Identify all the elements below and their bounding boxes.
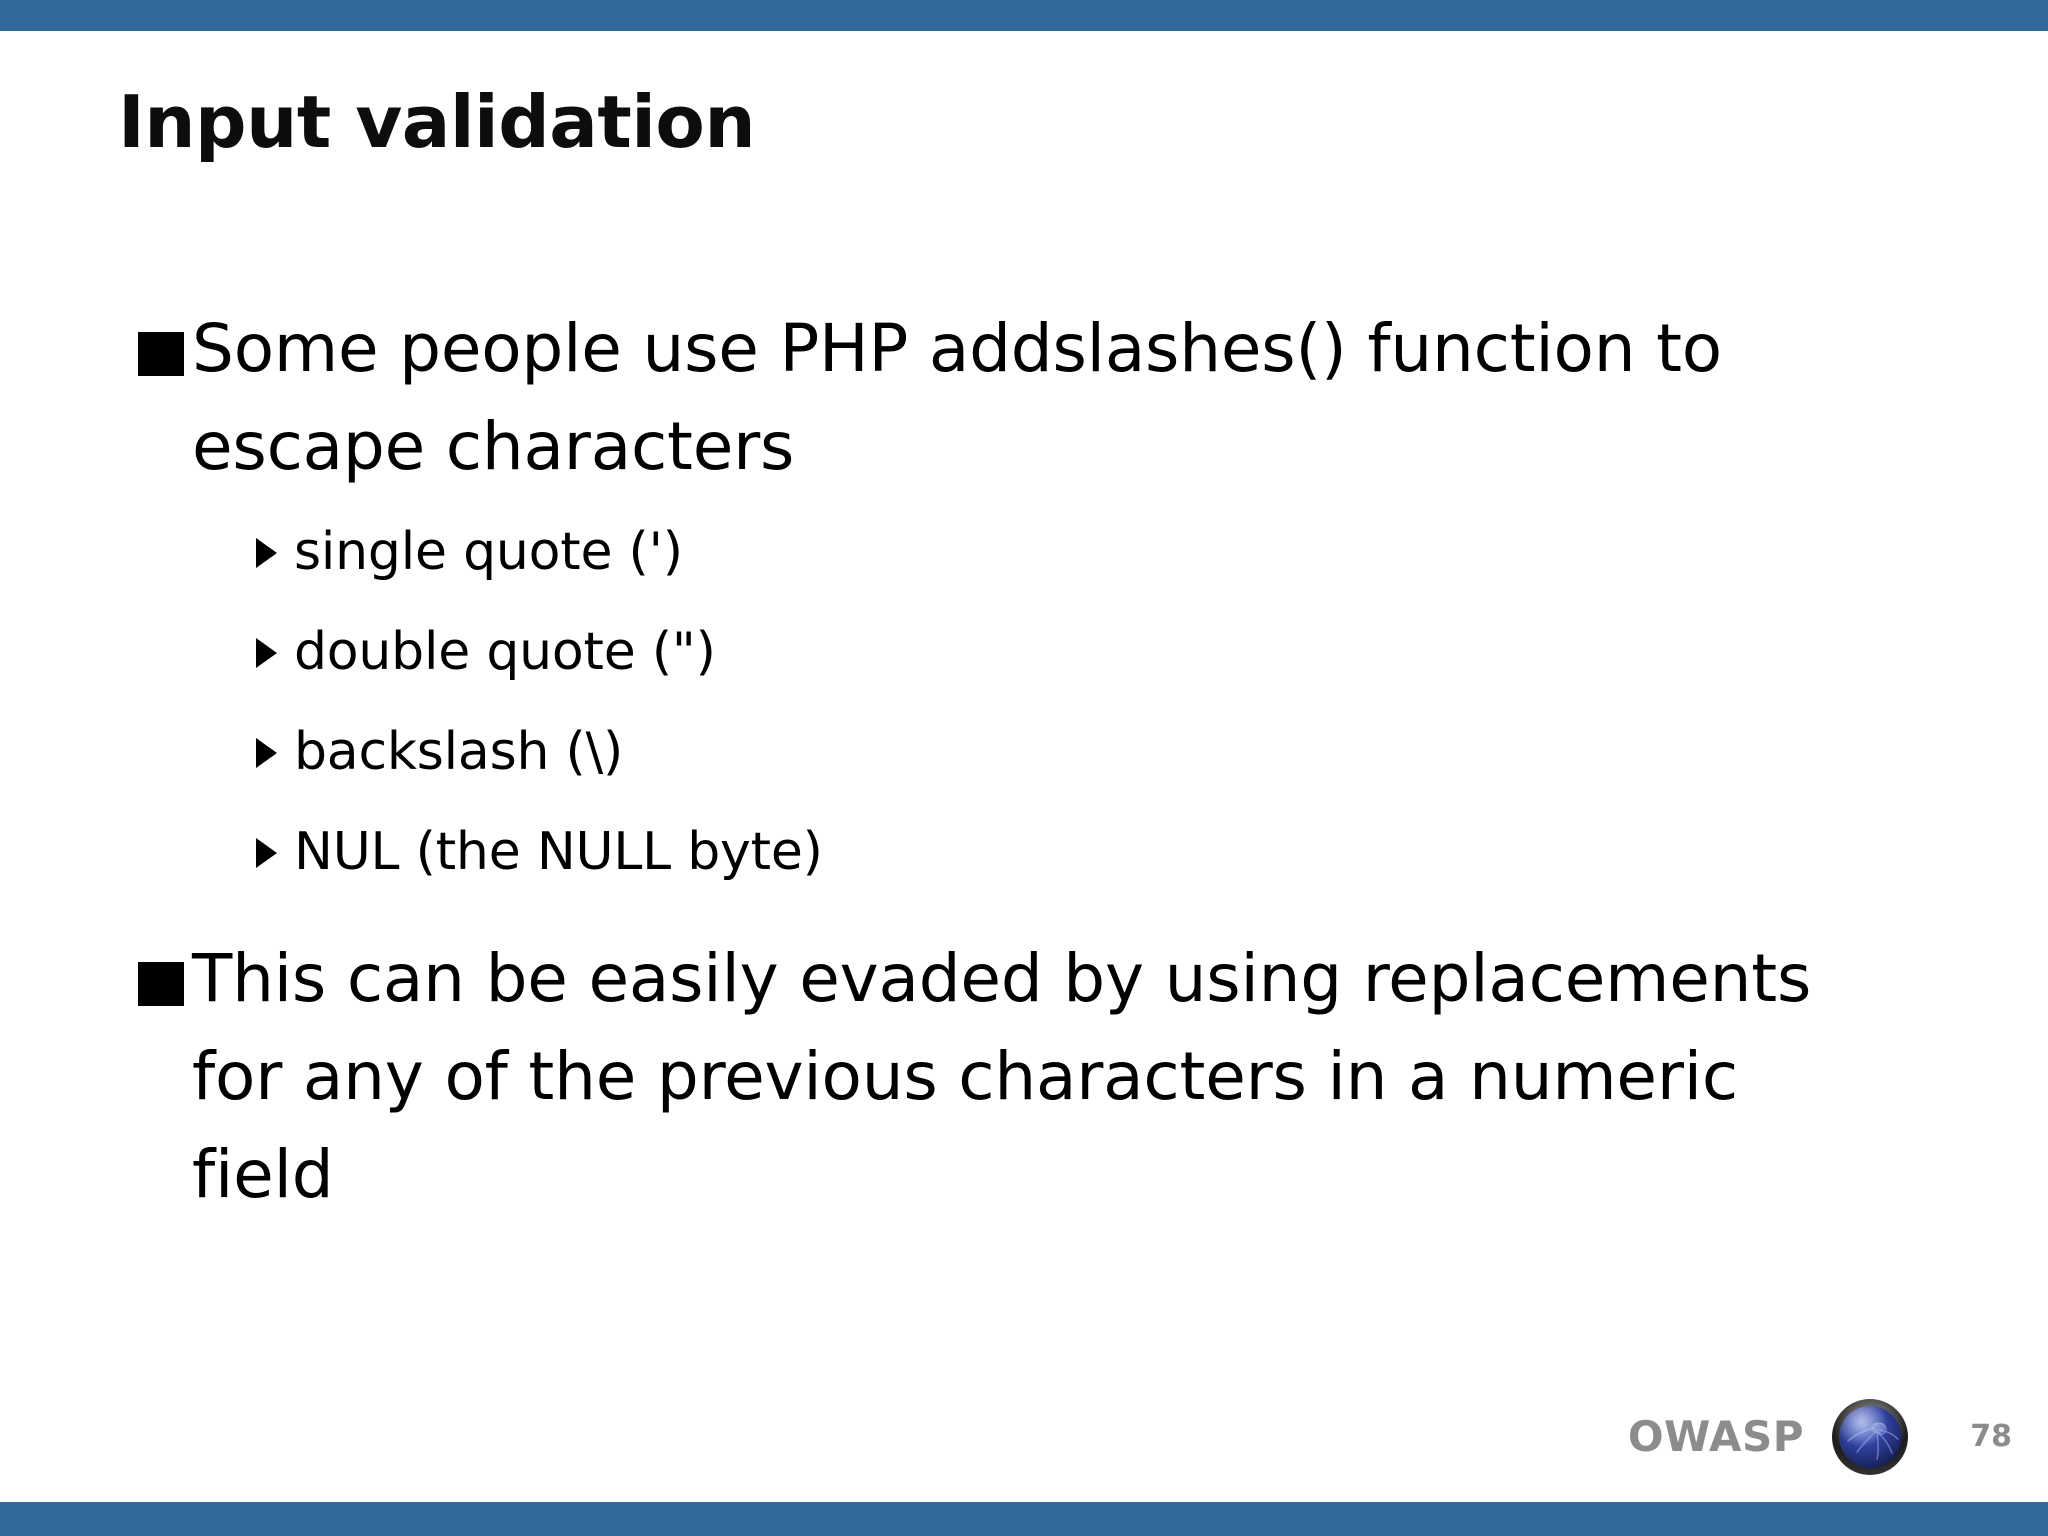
sub-bullet-list: single quote (') double quote (") backsl… <box>130 502 1890 902</box>
sub-bullet-text: backslash (\) <box>294 702 1890 802</box>
sub-bullet-item: single quote (') <box>250 502 1890 602</box>
bullet-item: Some people use PHP addslashes() functio… <box>130 300 1890 496</box>
sub-bullet-item: NUL (the NULL byte) <box>250 802 1890 902</box>
slide: Input validation Some people use PHP add… <box>0 0 2048 1536</box>
slide-body: Some people use PHP addslashes() functio… <box>130 300 1890 1230</box>
sub-bullet-text: NUL (the NULL byte) <box>294 802 1890 902</box>
owasp-globe-logo-icon <box>1830 1397 1910 1477</box>
spacer <box>130 912 1890 930</box>
sub-bullet-text: single quote (') <box>294 502 1890 602</box>
bullet-item: This can be easily evaded by using repla… <box>130 930 1890 1224</box>
page-title: Input validation <box>118 80 755 164</box>
sub-bullet-text: double quote (") <box>294 602 1890 702</box>
bullet-text: This can be easily evaded by using repla… <box>192 930 1890 1224</box>
slide-footer: OWASP <box>1448 1372 2048 1502</box>
page-number: 78 <box>1966 1422 2012 1452</box>
sub-bullet-item: backslash (\) <box>250 702 1890 802</box>
bullet-text: Some people use PHP addslashes() functio… <box>192 300 1890 496</box>
owasp-wordmark: OWASP <box>1628 1416 1804 1458</box>
sub-bullet-item: double quote (") <box>250 602 1890 702</box>
bottom-accent-bar <box>0 1502 2048 1536</box>
top-accent-bar <box>0 0 2048 31</box>
